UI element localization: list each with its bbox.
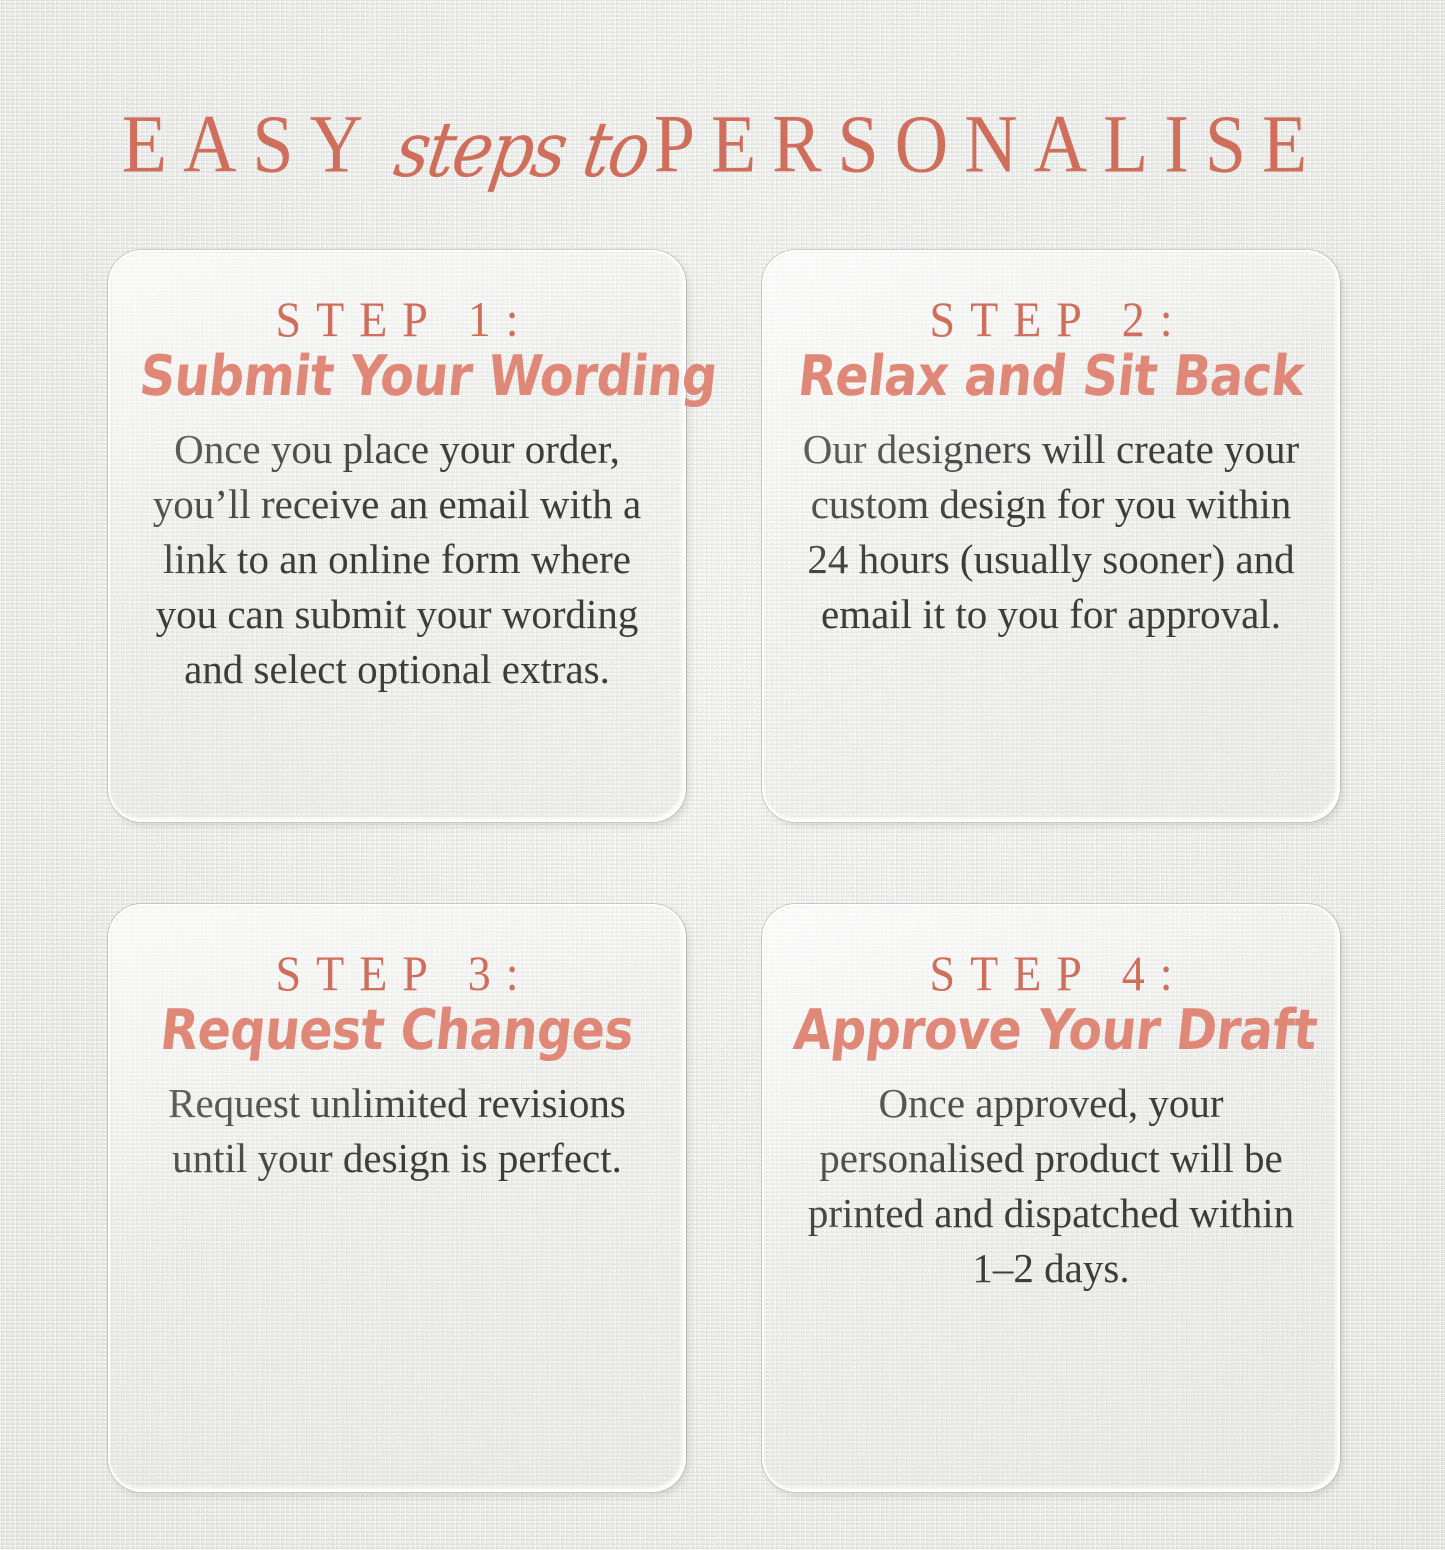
title-script-steps-to: steps to — [376, 112, 668, 189]
title-word-personalise: PERSONALISE — [654, 103, 1323, 186]
personalisation-steps-infographic: EASYsteps toPERSONALISE STEP 1: Submit Y… — [0, 0, 1445, 1550]
step-label-3: STEP 3: — [140, 948, 654, 1000]
step-card-3[interactable]: STEP 3: Request Changes Request unlimite… — [108, 904, 686, 1492]
step-title-4: Approve Your Draft — [791, 1001, 1311, 1062]
row-gap-spacer — [108, 822, 1340, 904]
step-body-4: Once approved, your personalised product… — [799, 1076, 1304, 1296]
step-card-2[interactable]: STEP 2: Relax and Sit Back Our designers… — [762, 250, 1340, 822]
page-title: EASYsteps toPERSONALISE — [0, 112, 1445, 186]
step-body-1: Once you place your order, you’ll receiv… — [140, 422, 654, 697]
step-title-3: Request Changes — [137, 1001, 657, 1062]
step-body-2: Our designers will create your custom de… — [794, 422, 1308, 642]
step-label-2: STEP 2: — [794, 294, 1308, 346]
card-row-top: STEP 1: Submit Your Wording Once you pla… — [108, 250, 1340, 822]
card-row-bottom: STEP 3: Request Changes Request unlimite… — [108, 904, 1340, 1492]
step-title-1: Submit Your Wording — [137, 347, 657, 408]
step-title-2: Relax and Sit Back — [791, 347, 1311, 408]
step-label-4: STEP 4: — [794, 948, 1308, 1000]
steps-card-grid: STEP 1: Submit Your Wording Once you pla… — [108, 250, 1340, 1492]
step-card-1[interactable]: STEP 1: Submit Your Wording Once you pla… — [108, 250, 686, 822]
step-label-1: STEP 1: — [140, 294, 654, 346]
title-word-easy: EASY — [122, 103, 379, 186]
step-body-3: Request unlimited revisions until your d… — [145, 1076, 650, 1186]
step-card-4[interactable]: STEP 4: Approve Your Draft Once approved… — [762, 904, 1340, 1492]
